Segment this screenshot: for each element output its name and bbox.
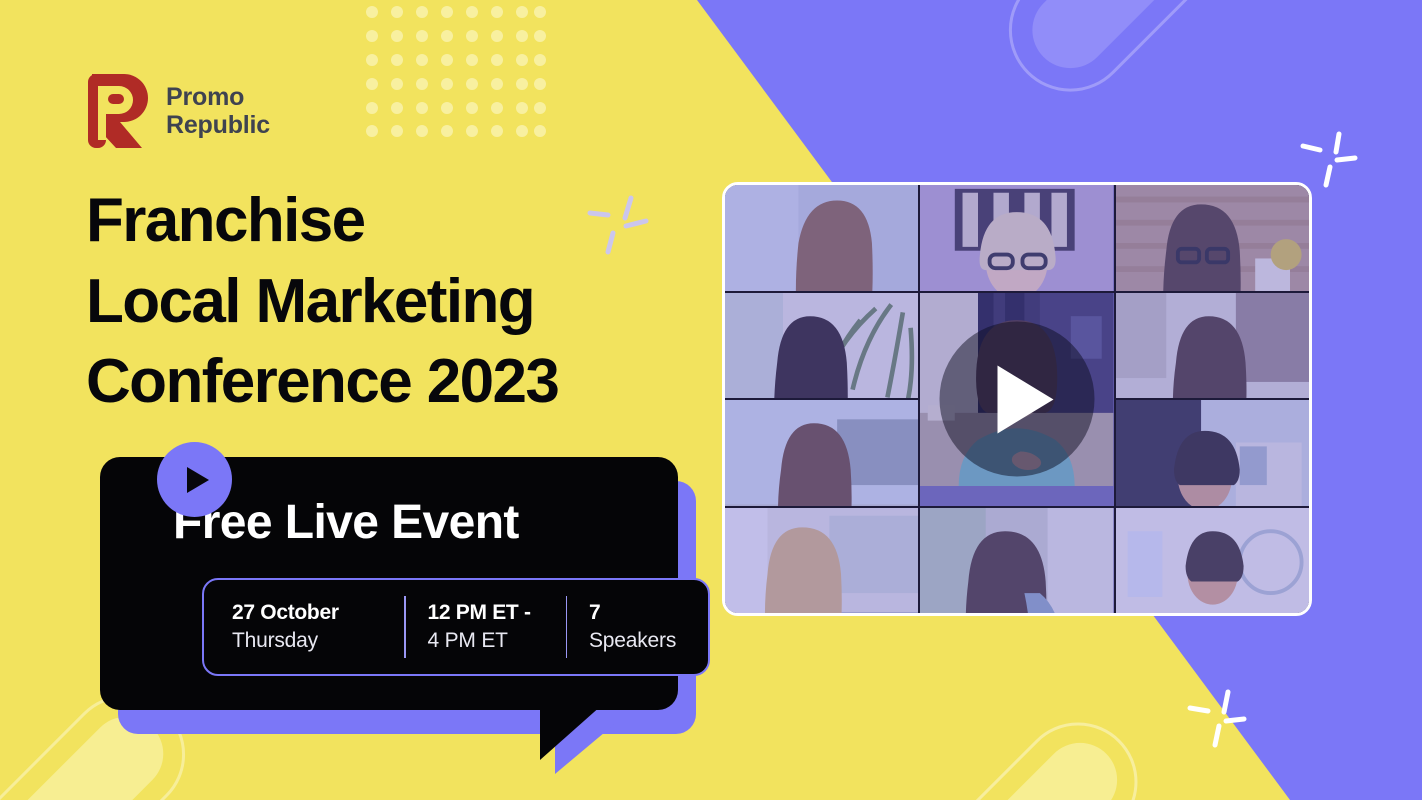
- play-circle-icon[interactable]: [940, 322, 1095, 477]
- speakers-cell: 7 Speakers: [567, 580, 694, 674]
- speakers-video-preview[interactable]: [722, 182, 1312, 616]
- event-date: 27 October: [232, 599, 386, 627]
- poster-canvas: Promo Republic Franchise Local Marketing…: [0, 0, 1422, 800]
- brand-wordmark: Promo Republic: [166, 83, 270, 139]
- left-content-column: Promo Republic Franchise Local Marketing…: [86, 0, 686, 800]
- brand-logo[interactable]: Promo Republic: [86, 72, 270, 150]
- headline-line-1: Franchise: [86, 181, 686, 262]
- video-tile-9[interactable]: [920, 508, 1113, 614]
- video-tile-1[interactable]: [725, 185, 918, 291]
- event-date-cell: 27 October Thursday: [204, 580, 404, 674]
- event-time-end: 4 PM ET: [428, 627, 548, 655]
- play-triangle-icon: [187, 467, 209, 493]
- event-title: Free Live Event: [173, 495, 519, 550]
- video-tile-8[interactable]: [725, 508, 918, 614]
- play-button-badge[interactable]: [157, 442, 232, 517]
- video-tile-4[interactable]: [725, 293, 918, 399]
- brand-name-line2: Republic: [166, 111, 270, 139]
- event-details-box: 27 October Thursday 12 PM ET - 4 PM ET 7…: [202, 578, 710, 676]
- speakers-count: 7: [589, 599, 676, 627]
- brand-name-line1: Promo: [166, 83, 270, 111]
- video-tile-7[interactable]: [1116, 400, 1309, 506]
- event-weekday: Thursday: [232, 627, 386, 655]
- video-tile-6[interactable]: [725, 400, 918, 506]
- page-title: Franchise Local Marketing Conference 202…: [86, 181, 686, 423]
- promorepublic-r-mark-icon: [86, 72, 148, 150]
- video-tile-3[interactable]: [1116, 185, 1309, 291]
- bubble-tail: [540, 705, 602, 760]
- headline-line-3: Conference 2023: [86, 342, 686, 423]
- event-time-cell: 12 PM ET - 4 PM ET: [406, 580, 566, 674]
- event-time-start: 12 PM ET -: [428, 599, 548, 627]
- video-tile-5[interactable]: [1116, 293, 1309, 399]
- speakers-label: Speakers: [589, 627, 676, 655]
- video-tile-2[interactable]: [920, 185, 1113, 291]
- headline-line-2: Local Marketing: [86, 262, 686, 343]
- play-triangle-icon: [997, 365, 1053, 433]
- video-tile-10[interactable]: [1116, 508, 1309, 614]
